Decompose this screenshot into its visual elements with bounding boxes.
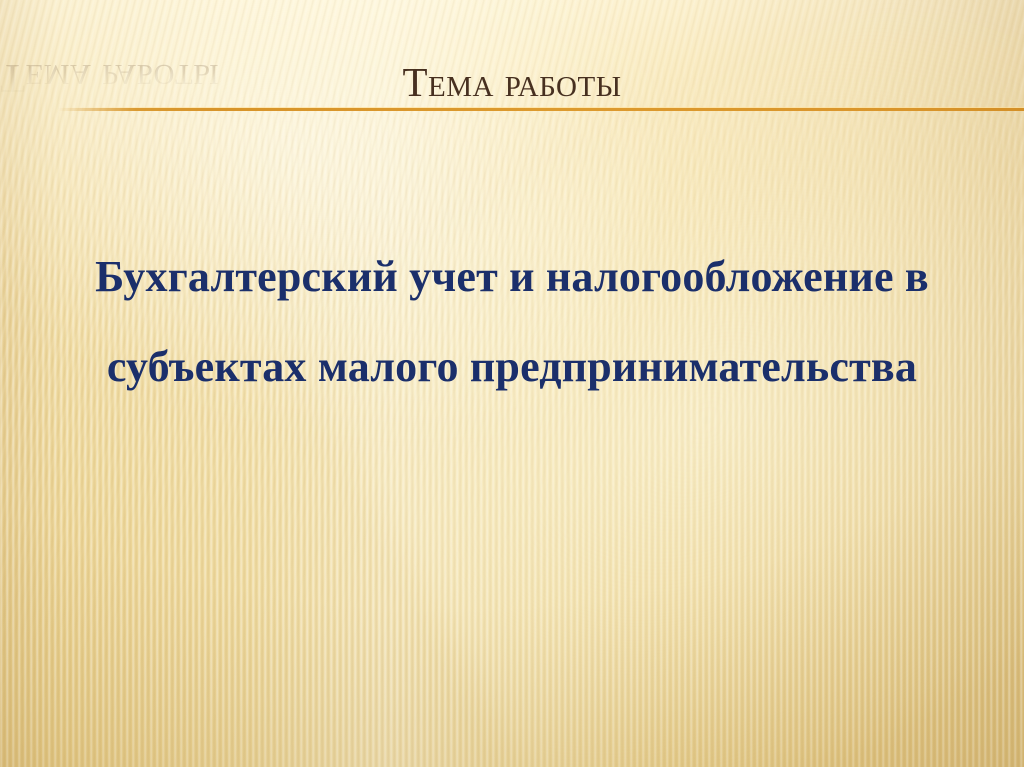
slide-title: Тема работы [403,56,622,108]
slide-title-area: Тема работы Тема работы [0,56,1024,166]
slide-body-line-1: Бухгалтерский учет и налогообложение в [0,232,1024,322]
slide-title-reflection: Тема работы [0,53,219,105]
title-divider-rule [58,108,1024,111]
slide-body-area: Бухгалтерский учет и налогообложение в с… [0,232,1024,412]
slide-body-line-2: субъектах малого предпринимательства [0,322,1024,412]
presentation-slide: Тема работы Тема работы Бухгалтерский уч… [0,0,1024,767]
